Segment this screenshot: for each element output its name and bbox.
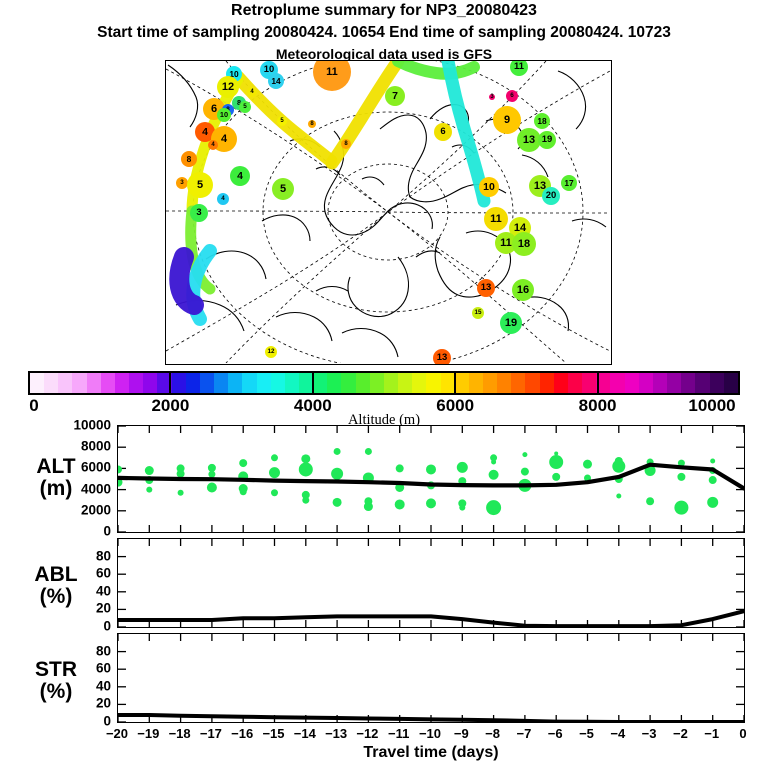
alt-scatter-point [208, 471, 215, 478]
colorbar-tick-label: 2000 [151, 396, 189, 416]
x-axis-tick-label: −4 [610, 726, 625, 741]
colorbar-swatch [568, 373, 582, 393]
y-axis-tick-label: 20 [0, 601, 111, 616]
alt-scatter-point [208, 464, 216, 472]
colorbar-swatch [582, 373, 596, 393]
y-axis-tick-label: 2000 [0, 502, 111, 517]
map-trajectory-marker[interactable]: 5 [272, 178, 294, 200]
map-trajectory-marker[interactable]: 4 [230, 166, 250, 186]
colorbar-swatch [313, 373, 327, 393]
x-axis-tick-label: −18 [169, 726, 191, 741]
alt-scatter-point [333, 498, 342, 507]
y-axis-tick-label: 0 [0, 619, 111, 634]
map-trajectory-marker[interactable]: 3 [190, 204, 208, 222]
colorbar-swatch [653, 373, 667, 393]
colorbar-swatch [30, 373, 44, 393]
colorbar-swatch [72, 373, 86, 393]
altitude-colorbar[interactable] [28, 371, 740, 395]
map-trajectory-marker[interactable]: 5 [277, 116, 287, 126]
colorbar-swatch [483, 373, 497, 393]
alt-scatter-point [457, 462, 468, 473]
alt-scatter-point [709, 476, 717, 484]
alt-scatter-point [549, 455, 563, 469]
map-trajectory-marker[interactable]: 7 [385, 86, 405, 106]
map-trajectory-marker[interactable]: 20 [542, 187, 560, 205]
x-axis-tick-label: −2 [673, 726, 688, 741]
x-axis-tick-label: −1 [704, 726, 719, 741]
map-trajectory-marker[interactable]: 6 [506, 90, 518, 102]
colorbar-swatch [610, 373, 624, 393]
colorbar-swatch [441, 373, 455, 393]
colorbar-swatch [172, 373, 186, 393]
y-axis-tick-label: 80 [0, 548, 111, 563]
x-axis-tick-label: −9 [454, 726, 469, 741]
alt-scatter-point [146, 487, 152, 493]
x-axis-tick-label: −16 [231, 726, 253, 741]
alt-scatter-point [177, 470, 185, 478]
colorbar-tick-label: 4000 [294, 396, 332, 416]
map-trajectory-marker[interactable]: 17 [561, 175, 577, 191]
colorbar-tick-label: 8000 [579, 396, 617, 416]
x-axis-tick-label: −19 [137, 726, 159, 741]
map-trajectory-marker[interactable]: 5 [187, 172, 213, 198]
alt-scatter-point [271, 454, 278, 461]
map-trajectory-marker[interactable]: 13 [477, 279, 495, 297]
alt-scatter-point [239, 459, 247, 467]
alt-scatter-point [552, 473, 560, 481]
colorbar-divider [597, 371, 599, 395]
alt-scatter-point [612, 460, 625, 473]
alt-scatter-point [710, 458, 715, 463]
colorbar-swatch [44, 373, 58, 393]
colorbar-swatch [129, 373, 143, 393]
colorbar-container [28, 371, 740, 395]
abl-plot-graphics [118, 539, 744, 627]
map-trajectory-marker[interactable]: 18 [534, 113, 550, 129]
colorbar-swatch [455, 373, 469, 393]
colorbar-swatch [341, 373, 355, 393]
alt-scatter-point [396, 464, 404, 472]
colorbar-swatch [285, 373, 299, 393]
colorbar-swatch [724, 373, 738, 393]
y-axis-tick-label: 0 [0, 714, 111, 729]
map-plume-trajectories [179, 61, 484, 319]
y-axis-tick-label: 0 [0, 524, 111, 539]
x-axis-tick-label: −3 [642, 726, 657, 741]
colorbar-divider [169, 371, 171, 395]
alt-scatter-point [207, 482, 217, 492]
y-axis-tick-label: 6000 [0, 460, 111, 475]
colorbar-swatch [327, 373, 341, 393]
colorbar-swatch [398, 373, 412, 393]
y-axis-tick-label: 60 [0, 566, 111, 581]
map-trajectory-marker[interactable]: 10 [217, 108, 231, 122]
colorbar-swatch [681, 373, 695, 393]
alt-scatter-point [240, 488, 247, 495]
x-axis-tick-label: −14 [294, 726, 316, 741]
alt-plot-graphics [118, 426, 744, 532]
map-trajectory-marker[interactable]: 13 [433, 349, 451, 365]
colorbar-swatch [412, 373, 426, 393]
colorbar-swatch [540, 373, 554, 393]
alt-scatter-point [646, 497, 654, 505]
plume-path-cyan-right [448, 61, 484, 201]
colorbar-swatch [356, 373, 370, 393]
alt-plot-panel[interactable] [117, 425, 745, 533]
alt-scatter-point [145, 466, 154, 475]
colorbar-swatch [58, 373, 72, 393]
x-axis-tick-label: −12 [356, 726, 378, 741]
y-axis-tick-label: 20 [0, 696, 111, 711]
colorbar-swatch [214, 373, 228, 393]
colorbar-swatch [87, 373, 101, 393]
alt-scatter-point [299, 462, 313, 476]
colorbar-swatch [228, 373, 242, 393]
colorbar-swatch [242, 373, 256, 393]
alt-scatter-point [331, 468, 343, 480]
colorbar-divider [312, 371, 314, 395]
map-trajectory-marker[interactable]: 11 [484, 207, 508, 231]
map-trajectory-marker[interactable]: 4 [247, 87, 257, 97]
colorbar-tick-label: 0 [29, 396, 38, 416]
x-axis-tick-label: −11 [388, 726, 409, 741]
y-axis-tick-label: 10000 [0, 418, 111, 433]
alt-scatter-point [489, 470, 499, 480]
map-trajectory-marker[interactable]: 16 [512, 279, 534, 301]
map-trajectory-marker[interactable]: 14 [268, 73, 284, 89]
alt-scatter-point [486, 500, 501, 515]
colorbar-swatch [115, 373, 129, 393]
map-trajectory-marker[interactable]: 8 [341, 139, 351, 149]
x-axis-tick-label: −13 [325, 726, 347, 741]
alt-scatter-point [707, 497, 718, 508]
map-trajectory-marker[interactable]: 4 [217, 193, 229, 205]
alt-scatter-point [334, 448, 341, 455]
retroplume-map[interactable]: 1010141241185681074448354435588611639181… [165, 60, 612, 365]
colorbar-swatch [469, 373, 483, 393]
str-plot-panel[interactable] [117, 633, 745, 723]
x-axis-tick-label: −17 [200, 726, 222, 741]
alt-scatter-point [616, 493, 621, 498]
colorbar-swatch [143, 373, 157, 393]
colorbar-swatch [370, 373, 384, 393]
y-axis-tick-label: 4000 [0, 481, 111, 496]
map-trajectory-marker[interactable]: 18 [512, 232, 536, 256]
alt-scatter-point [118, 465, 122, 473]
alt-scatter-point [554, 452, 558, 456]
y-axis-tick-label: 8000 [0, 439, 111, 454]
map-trajectory-marker[interactable]: 19 [538, 131, 556, 149]
map-trajectory-marker[interactable]: 10 [479, 177, 499, 197]
colorbar-swatch [639, 373, 653, 393]
colorbar-swatch [271, 373, 285, 393]
y-axis-tick-label: 60 [0, 661, 111, 676]
map-trajectory-marker[interactable]: 9 [493, 106, 521, 134]
colorbar-swatch [511, 373, 525, 393]
alt-scatter-point [459, 505, 465, 511]
alt-scatter-point [677, 473, 685, 481]
colorbar-tick-label: 10000 [688, 396, 735, 416]
colorbar-swatch [710, 373, 724, 393]
alt-scatter-point [301, 454, 310, 463]
map-trajectory-marker[interactable]: 5 [239, 101, 251, 113]
alt-scatter-point [302, 497, 309, 504]
map-trajectory-marker[interactable]: 15 [472, 307, 484, 319]
alt-scatter-point [426, 464, 436, 474]
colorbar-divider [454, 371, 456, 395]
colorbar-tick-label: 6000 [436, 396, 474, 416]
alt-scatter-point [364, 502, 373, 511]
colorbar-swatch [525, 373, 539, 393]
sampling-time-line: Start time of sampling 20080424. 10654 E… [0, 24, 768, 42]
colorbar-swatch [257, 373, 271, 393]
x-axis-tick-label: −7 [516, 726, 531, 741]
alt-scatter-point [395, 499, 405, 509]
colorbar-swatch [200, 373, 214, 393]
x-axis-tick-label: 0 [739, 726, 746, 741]
colorbar-swatch [625, 373, 639, 393]
alt-scatter-point [269, 467, 280, 478]
map-trajectory-marker[interactable]: 12 [265, 346, 277, 358]
colorbar-swatch [101, 373, 115, 393]
x-axis-tick-label: −5 [579, 726, 594, 741]
x-axis-tick-label: −6 [548, 726, 563, 741]
y-axis-tick-label: 80 [0, 643, 111, 658]
colorbar-swatch [695, 373, 709, 393]
map-trajectory-marker[interactable]: 8 [181, 151, 197, 167]
alt-scatter-point [521, 468, 529, 476]
page-title: Retroplume summary for NP3_20080423 [0, 2, 768, 20]
x-axis-tick-label: −20 [106, 726, 128, 741]
abl-plot-panel[interactable] [117, 538, 745, 628]
colorbar-swatch [554, 373, 568, 393]
map-trajectory-marker[interactable]: 6 [434, 123, 452, 141]
alt-scatter-point [178, 490, 184, 496]
alt-scatter-point [491, 460, 496, 465]
colorbar-swatch [426, 373, 440, 393]
alt-scatter-point [522, 452, 527, 457]
colorbar-swatch [497, 373, 511, 393]
colorbar-swatch [667, 373, 681, 393]
alt-scatter-point [426, 498, 436, 508]
map-trajectory-marker[interactable]: 4 [208, 140, 218, 150]
x-axis-title: Travel time (days) [117, 744, 745, 762]
str-plot-graphics [118, 634, 744, 722]
y-axis-tick-label: 40 [0, 583, 111, 598]
alt-scatter-point [674, 501, 688, 515]
colorbar-swatch [186, 373, 200, 393]
colorbar-swatch [384, 373, 398, 393]
alt-scatter-point [271, 489, 278, 496]
alt-scatter-point [583, 460, 592, 469]
map-trajectory-marker[interactable]: 12 [217, 76, 239, 98]
alt-scatter-point [365, 448, 372, 455]
plume-path-green [398, 61, 474, 74]
map-trajectory-marker[interactable]: 19 [500, 312, 522, 334]
x-axis-tick-label: −15 [262, 726, 284, 741]
y-axis-tick-label: 40 [0, 678, 111, 693]
map-trajectory-marker[interactable]: 3 [489, 94, 495, 100]
x-axis-tick-label: −8 [485, 726, 500, 741]
map-trajectory-marker[interactable]: 8 [308, 120, 316, 128]
x-axis-tick-label: −10 [419, 726, 441, 741]
